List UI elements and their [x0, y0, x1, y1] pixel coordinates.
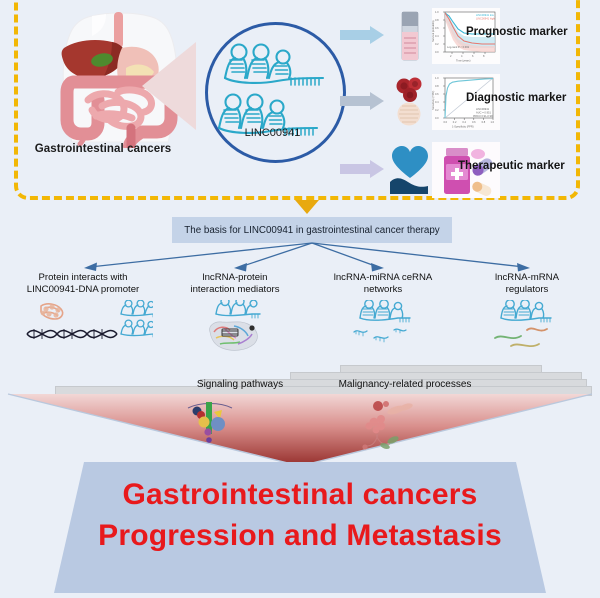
- organ-label: Gastrointestinal cancers: [8, 143, 198, 155]
- svg-text:0.6: 0.6: [472, 120, 476, 124]
- mechanism-lncrna-mrna: lncRNA-mRNA regulators: [452, 272, 600, 352]
- svg-text:AUC = 0.951: AUC = 0.951: [476, 111, 491, 115]
- mechanism-label-line2: regulators: [452, 284, 600, 296]
- rna-with-mrna-strands-icon: [452, 300, 600, 352]
- marker-label-prognostic: Prognostic marker: [466, 26, 598, 38]
- svg-text:0.2: 0.2: [435, 108, 439, 112]
- svg-text:0.8: 0.8: [435, 18, 439, 22]
- rna-bound-protein-structure-icon: [160, 300, 310, 352]
- svg-text:0.2: 0.2: [435, 42, 439, 46]
- mechanism-protein-dna-promoter: Protein interacts with LINC00941-DNA pro…: [8, 272, 158, 352]
- heart-in-hand-icon: [388, 144, 432, 196]
- right-arrow-icon: [340, 26, 384, 44]
- blood-cells-and-tissue-icon: [388, 76, 432, 128]
- dna-helix-with-protein-and-rna-icon: [8, 300, 158, 352]
- svg-text:0.4: 0.4: [435, 34, 439, 38]
- svg-text:0.4: 0.4: [462, 120, 466, 124]
- svg-text:0.0: 0.0: [444, 120, 448, 124]
- svg-text:0.6: 0.6: [435, 92, 439, 96]
- linc00941-circle: [205, 22, 346, 163]
- marker-label-therapeutic: Therapeutic marker: [458, 160, 590, 172]
- svg-text:0.6: 0.6: [435, 26, 439, 30]
- down-triangle-icon: [295, 200, 319, 214]
- svg-text:0.8: 0.8: [482, 120, 486, 124]
- right-arrow-icon: [340, 160, 384, 178]
- mechanism-label-line1: lncRNA-miRNA ceRNA: [308, 272, 458, 284]
- mechanism-lncrna-mirna-cerna: lncRNA-miRNA ceRNA networks: [308, 272, 458, 352]
- svg-text:LINC00941 low: LINC00941 low: [476, 13, 494, 17]
- svg-text:0.8: 0.8: [435, 84, 439, 88]
- marker-row-prognostic: 1.00.8 0.60.4 0.20.0 24 68 Time (years) …: [340, 8, 598, 64]
- figure-canvas: Gastrointestinal cancers: [0, 0, 600, 593]
- svg-text:1.0: 1.0: [435, 76, 439, 80]
- svg-text:Sensitivity (TPR): Sensitivity (TPR): [432, 91, 435, 110]
- linc00941-label: LINC00941: [205, 127, 340, 139]
- svg-text:1.0: 1.0: [491, 120, 495, 124]
- mechanism-label-line1: Protein interacts with: [8, 272, 158, 284]
- svg-text:1-Specificity (FPR): 1-Specificity (FPR): [452, 125, 474, 129]
- mechanism-label-line1: lncRNA-protein: [160, 272, 310, 284]
- svg-text:0.2: 0.2: [453, 120, 457, 124]
- marker-label-diagnostic: Diagnostic marker: [466, 92, 598, 104]
- rna-with-mirna-fragments-icon: [308, 300, 458, 352]
- svg-text:LINC00941 high: LINC00941 high: [476, 17, 495, 21]
- svg-text:Time (years): Time (years): [456, 59, 471, 63]
- blood-test-tube-icon: [388, 10, 432, 62]
- mechanism-label-line2: interaction mediators: [160, 284, 310, 296]
- basis-statement-text: The basis for LINC00941 in gastrointesti…: [184, 225, 439, 236]
- banner-title: Gastrointestinal cancers Progression and…: [0, 474, 600, 556]
- svg-text:95%CI 0.91-0.99: 95%CI 0.91-0.99: [473, 114, 493, 118]
- right-arrow-icon: [340, 92, 384, 110]
- marker-row-diagnostic: 1.00.8 0.60.4 0.20.0 0.00.2 0.40.6 0.81.…: [340, 74, 598, 130]
- banner-title-line2: Progression and Metastasis: [0, 515, 600, 556]
- marker-row-therapeutic: Therapeutic marker: [340, 142, 598, 198]
- funnel-shape: [0, 390, 600, 470]
- mechanism-lncrna-protein: lncRNA-protein interaction mediators: [160, 272, 310, 352]
- banner-title-line1: Gastrointestinal cancers: [0, 474, 600, 515]
- left-triangle-arrow-icon: [142, 42, 198, 130]
- svg-text:LINC00941: LINC00941: [476, 107, 490, 111]
- mechanism-label-line2: networks: [308, 284, 458, 296]
- svg-text:1.0: 1.0: [435, 10, 439, 14]
- svg-text:0.4: 0.4: [435, 100, 439, 104]
- mechanism-label-line1: lncRNA-mRNA: [452, 272, 600, 284]
- svg-text:0.0: 0.0: [435, 116, 439, 120]
- svg-text:Log-rank P < 0.001: Log-rank P < 0.001: [447, 45, 470, 49]
- svg-text:0.0: 0.0: [435, 50, 439, 54]
- svg-text:Survival probability: Survival probability: [432, 20, 435, 42]
- funnel-label-malignancy: Malignancy-related processes: [295, 379, 515, 390]
- mechanism-label-line2: LINC00941-DNA promoter: [8, 284, 158, 296]
